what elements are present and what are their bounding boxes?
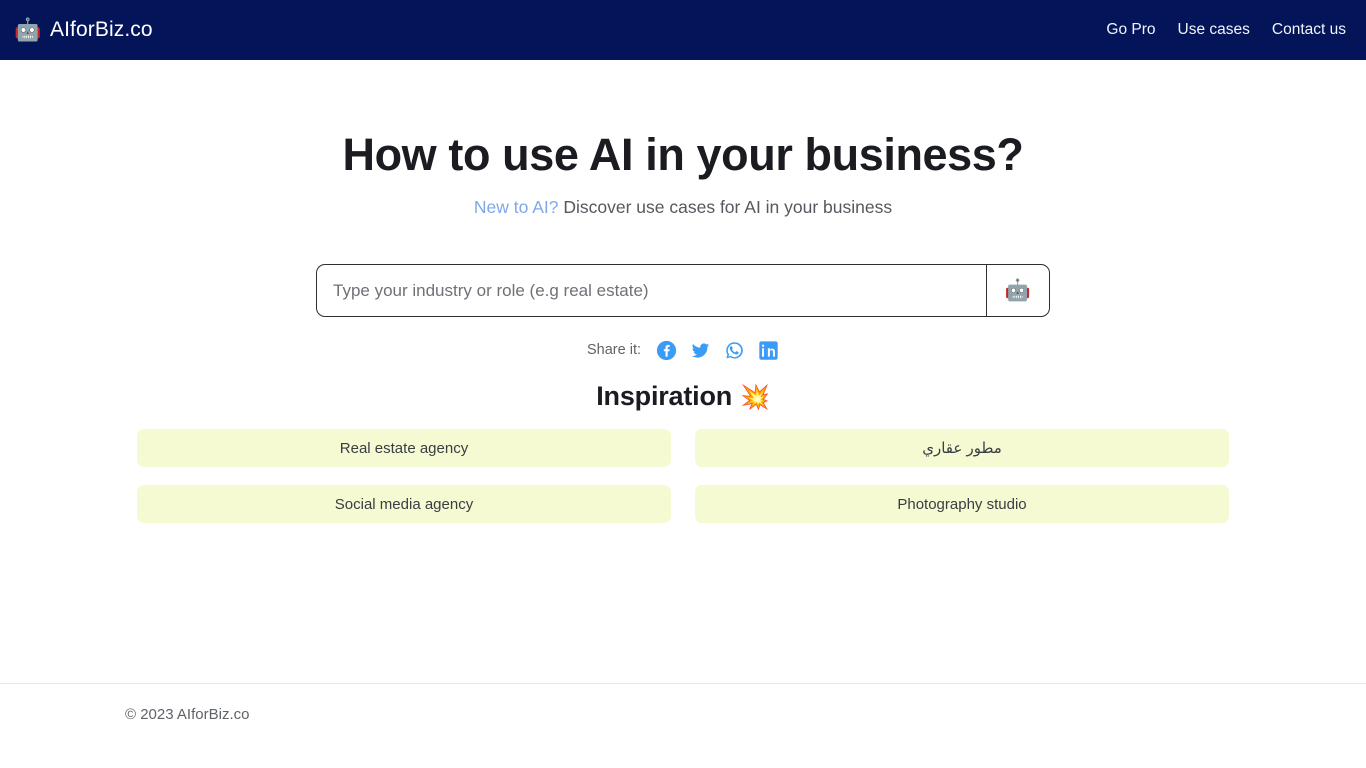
robot-logo-icon: 🤖	[14, 19, 40, 41]
top-navigation-bar: 🤖 AIforBiz.co Go Pro Use cases Contact u…	[0, 0, 1366, 60]
nav-link-go-pro[interactable]: Go Pro	[1106, 21, 1155, 39]
hero-section: How to use AI in your business? New to A…	[0, 60, 1366, 218]
nav-links-group: Go Pro Use cases Contact us	[1106, 21, 1350, 39]
facebook-share-icon[interactable]	[655, 339, 677, 361]
page-title: How to use AI in your business?	[0, 128, 1366, 181]
new-to-ai-link[interactable]: New to AI?	[474, 197, 559, 217]
brand-name-label: AIforBiz.co	[50, 18, 153, 42]
search-submit-button[interactable]: 🤖	[986, 264, 1050, 317]
copyright-text: © 2023 AIforBiz.co	[125, 706, 249, 723]
linkedin-share-icon[interactable]	[757, 339, 779, 361]
brand-home-link[interactable]: 🤖 AIforBiz.co	[14, 18, 153, 42]
nav-link-contact-us[interactable]: Contact us	[1272, 21, 1346, 39]
page-footer: © 2023 AIforBiz.co	[0, 683, 1366, 724]
inspiration-heading-text: Inspiration	[596, 381, 732, 411]
twitter-share-icon[interactable]	[689, 339, 711, 361]
inspiration-chip-social-media-agency[interactable]: Social media agency	[137, 485, 671, 523]
whatsapp-share-icon[interactable]	[723, 339, 745, 361]
search-section: 🤖	[0, 264, 1366, 317]
share-row: Share it:	[0, 339, 1366, 361]
inspiration-chip-photography-studio[interactable]: Photography studio	[695, 485, 1229, 523]
inspiration-chip-real-estate-agency[interactable]: Real estate agency	[137, 429, 671, 467]
inspiration-heading: Inspiration💥	[0, 381, 1366, 412]
hero-subtitle-text: Discover use cases for AI in your busine…	[559, 197, 893, 217]
robot-submit-icon: 🤖	[1005, 280, 1031, 301]
search-input-group: 🤖	[316, 264, 1050, 317]
inspiration-chip-arabic-real-estate-developer[interactable]: مطور عقاري	[695, 429, 1229, 467]
nav-link-use-cases[interactable]: Use cases	[1178, 21, 1250, 39]
hero-subtitle: New to AI? Discover use cases for AI in …	[0, 197, 1366, 218]
inspiration-chip-grid: Real estate agency مطور عقاري Social med…	[137, 429, 1229, 523]
collision-emoji-icon: 💥	[740, 384, 770, 411]
share-label: Share it:	[587, 342, 641, 358]
search-input[interactable]	[316, 264, 986, 317]
